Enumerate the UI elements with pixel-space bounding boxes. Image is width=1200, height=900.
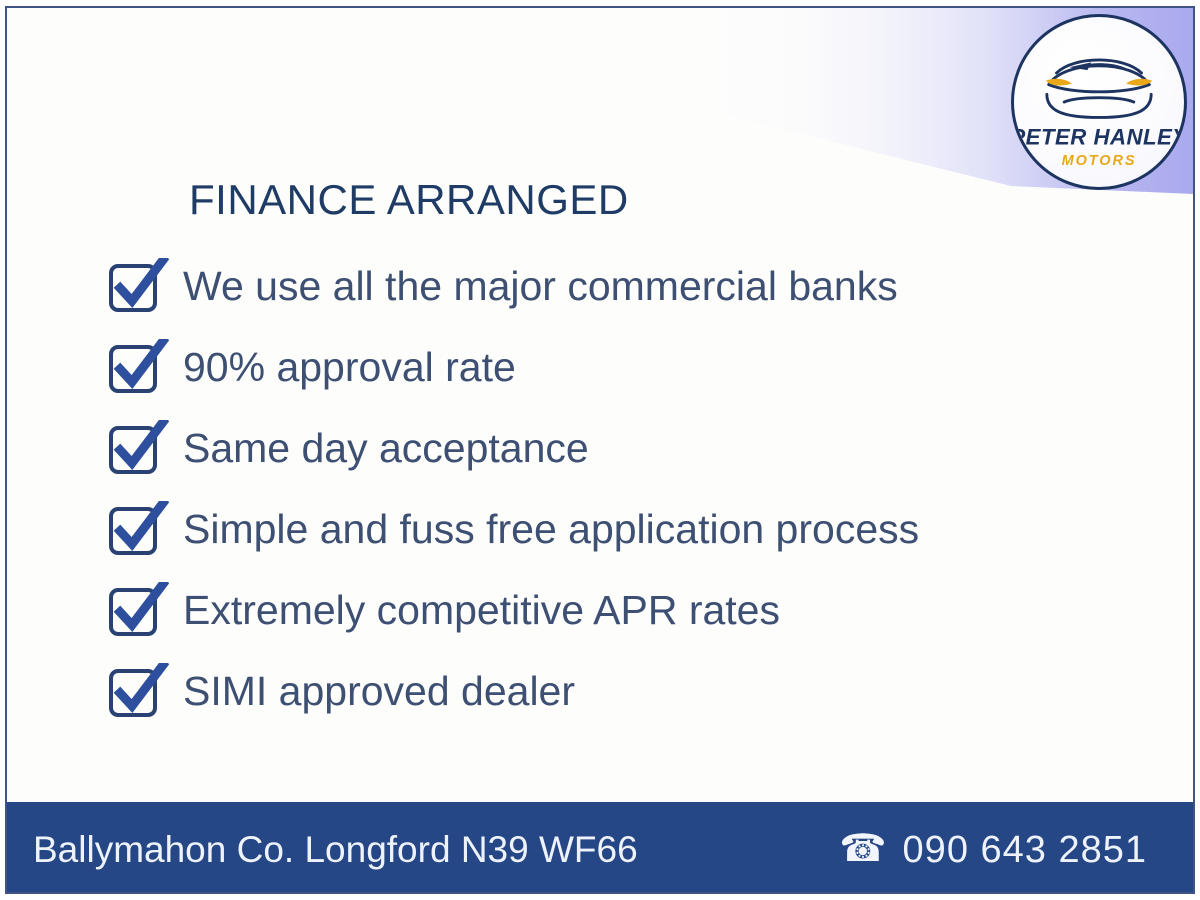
checked-checkbox-icon[interactable] [107, 582, 169, 640]
promo-card: PETER HANLEY MOTORS FINANCE ARRANGED We … [5, 6, 1195, 894]
address-text: Ballymahon Co. Longford N39 WF66 [33, 829, 638, 871]
logo-brand-line1: PETER HANLEY [1014, 125, 1184, 150]
list-item: Simple and fuss free application process [107, 489, 1107, 570]
list-item-label: 90% approval rate [183, 347, 516, 388]
benefits-checklist: We use all the major commercial banks 90… [107, 246, 1107, 732]
list-item: Same day acceptance [107, 408, 1107, 489]
checked-checkbox-icon[interactable] [107, 258, 169, 316]
checked-checkbox-icon[interactable] [107, 339, 169, 397]
list-item: SIMI approved dealer [107, 651, 1107, 732]
checked-checkbox-icon[interactable] [107, 663, 169, 721]
logo-graphic: PETER HANLEY MOTORS [1014, 17, 1184, 187]
page-title: FINANCE ARRANGED [189, 176, 629, 224]
list-item: We use all the major commercial banks [107, 246, 1107, 327]
list-item-label: Same day acceptance [183, 428, 589, 469]
list-item: 90% approval rate [107, 327, 1107, 408]
phone-number[interactable]: 090 643 2851 [903, 829, 1147, 872]
diagonal-gradient-band [7, 8, 1193, 268]
checked-checkbox-icon[interactable] [107, 420, 169, 478]
list-item-label: Simple and fuss free application process [183, 509, 919, 550]
contact-footer: Ballymahon Co. Longford N39 WF66 ☎ 090 6… [5, 802, 1195, 894]
peter-hanley-motors-logo: PETER HANLEY MOTORS [1011, 14, 1187, 190]
logo-brand-line2: MOTORS [1062, 153, 1137, 169]
list-item-label: We use all the major commercial banks [183, 266, 898, 307]
list-item-label: SIMI approved dealer [183, 671, 575, 712]
list-item-label: Extremely competitive APR rates [183, 590, 780, 631]
telephone-icon: ☎ [839, 830, 886, 868]
phone-block[interactable]: ☎ 090 643 2851 [839, 829, 1171, 872]
checked-checkbox-icon[interactable] [107, 501, 169, 559]
list-item: Extremely competitive APR rates [107, 570, 1107, 651]
